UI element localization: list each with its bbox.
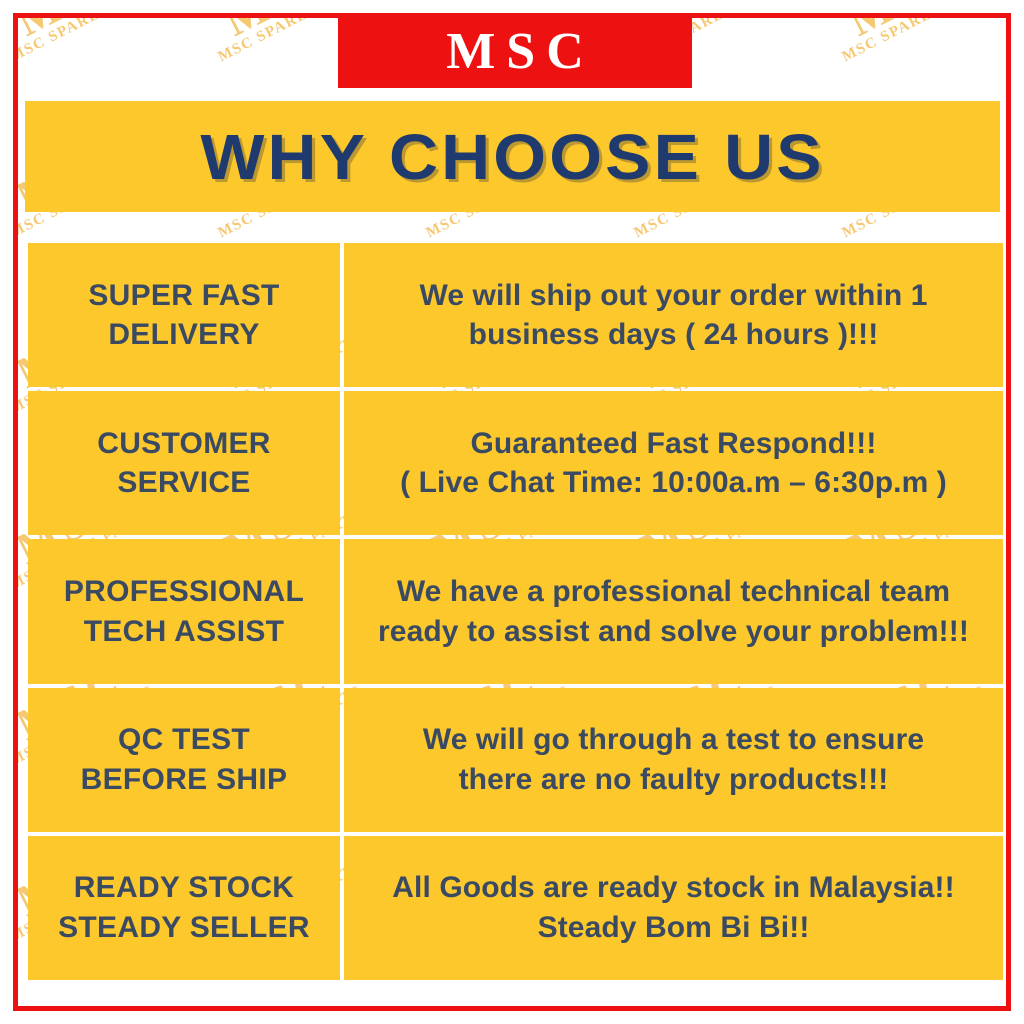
benefit-label: PROFESSIONALTECH ASSIST	[64, 572, 304, 651]
benefit-label: QC TESTBEFORE SHIP	[81, 720, 288, 799]
banner-content: MSC WHY CHOOSE US SUPER FASTDELIVERYWe w…	[0, 0, 1024, 1024]
benefit-label: SUPER FASTDELIVERY	[88, 276, 279, 355]
benefit-description-cell: We will go through a test to ensurethere…	[344, 688, 1003, 832]
benefit-description-cell: All Goods are ready stock in Malaysia!!S…	[344, 836, 1003, 980]
title-banner: WHY CHOOSE US	[25, 101, 1000, 212]
benefit-label-cell: READY STOCKSTEADY SELLER	[28, 836, 340, 980]
benefit-label-cell: SUPER FASTDELIVERY	[28, 243, 340, 387]
benefit-description-cell: Guaranteed Fast Respond!!!( Live Chat Ti…	[344, 391, 1003, 535]
benefit-label: READY STOCKSTEADY SELLER	[58, 868, 310, 947]
table-row: SUPER FASTDELIVERYWe will ship out your …	[28, 243, 1003, 387]
benefit-description-cell: We have a professional technical teamrea…	[344, 539, 1003, 683]
benefit-description-cell: We will ship out your order within 1busi…	[344, 243, 1003, 387]
msc-logo: MSC	[338, 15, 692, 88]
benefit-label-cell: PROFESSIONALTECH ASSIST	[28, 539, 340, 683]
benefit-label: CUSTOMERSERVICE	[97, 424, 271, 503]
why-choose-us-banner: MSCMSC SPARE PARTSMSCMSC SPARE PARTSMSCM…	[0, 0, 1024, 1024]
benefit-description: Guaranteed Fast Respond!!!( Live Chat Ti…	[400, 424, 947, 503]
table-row: CUSTOMERSERVICEGuaranteed Fast Respond!!…	[28, 391, 1003, 535]
benefit-label-cell: CUSTOMERSERVICE	[28, 391, 340, 535]
benefit-description: We have a professional technical teamrea…	[378, 572, 969, 651]
table-row: READY STOCKSTEADY SELLERAll Goods are re…	[28, 836, 1003, 980]
page-title: WHY CHOOSE US	[200, 125, 824, 189]
table-row: QC TESTBEFORE SHIPWe will go through a t…	[28, 688, 1003, 832]
benefit-description: We will ship out your order within 1busi…	[419, 276, 927, 355]
benefits-table: SUPER FASTDELIVERYWe will ship out your …	[28, 243, 1003, 980]
benefit-description: All Goods are ready stock in Malaysia!!S…	[392, 868, 954, 947]
benefit-description: We will go through a test to ensurethere…	[423, 720, 924, 799]
msc-logo-text: MSC	[435, 26, 595, 78]
benefit-label-cell: QC TESTBEFORE SHIP	[28, 688, 340, 832]
table-row: PROFESSIONALTECH ASSISTWe have a profess…	[28, 539, 1003, 683]
